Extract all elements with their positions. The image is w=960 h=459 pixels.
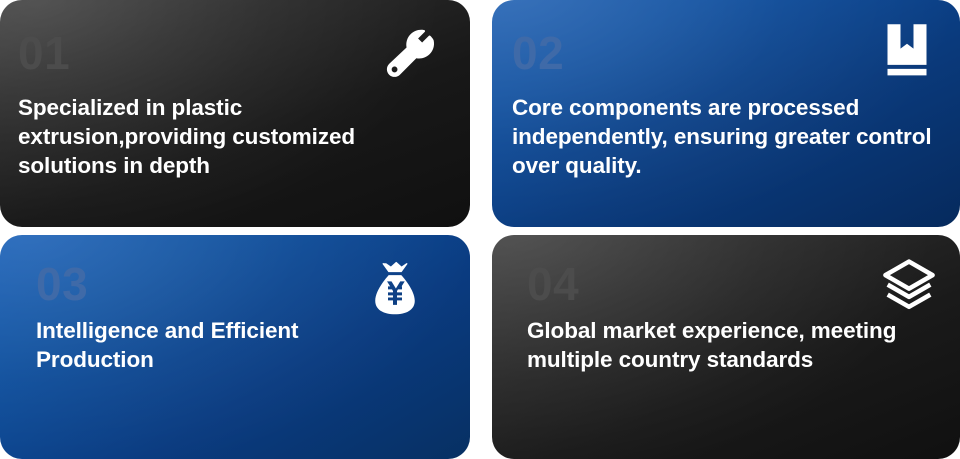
card-text-02: Core components are processed independen… (512, 94, 940, 180)
feature-card-01[interactable]: 01 Specialized in plastic extrusion,prov… (0, 0, 470, 227)
card-text-04: Global market experience, meeting multip… (527, 317, 897, 375)
card-text-01: Specialized in plastic extrusion,providi… (18, 94, 444, 180)
card-text-03: Intelligence and Efficient Production (36, 317, 416, 375)
card-number-03: 03 (36, 261, 442, 307)
card-number-04: 04 (527, 261, 934, 307)
feature-card-02[interactable]: 02 Core components are processed indepen… (492, 0, 960, 227)
card-number-01: 01 (18, 30, 444, 76)
card-number-02: 02 (512, 30, 940, 76)
feature-card-03[interactable]: 03 Intelligence and Efficient Production (0, 235, 470, 459)
feature-card-grid: 01 Specialized in plastic extrusion,prov… (0, 0, 960, 459)
feature-card-04[interactable]: 04 Global market experience, meeting mul… (492, 235, 960, 459)
